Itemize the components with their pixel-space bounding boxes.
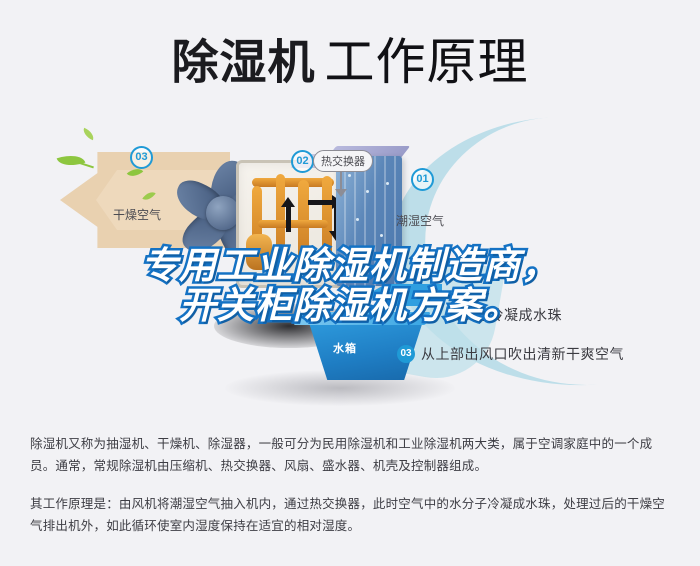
flow-arrow-right-icon	[308, 200, 332, 205]
step-label-dry-air: 干燥空气	[113, 206, 161, 223]
page-title-primary: 除湿机	[172, 36, 316, 89]
leaf-icon	[81, 128, 96, 141]
body-paragraph-2: 其工作原理是：由风机将潮湿空气抽入机内，通过热交换器，此时空气中的水分子冷凝成水…	[30, 493, 672, 537]
page-title: 除湿机工作原理	[0, 22, 700, 94]
fan-hub	[206, 196, 240, 230]
page-title-secondary: 工作原理	[325, 34, 529, 90]
note-text-02: 蒸发器冷凝成水珠	[446, 305, 562, 325]
note-text-03: 从上部出风口吹出清新干爽空气	[421, 344, 624, 364]
body-paragraph-1: 除湿机又称为抽湿机、干燥机、除湿器，一般可分为民用除湿机和工业除湿机两大类，属于…	[30, 433, 672, 477]
water-tank-label: 水箱	[333, 340, 357, 356]
leaf-icon	[57, 150, 86, 170]
step-label-humid-air: 潮湿空气	[396, 212, 444, 229]
evaporator-block	[336, 156, 402, 286]
compressor-cylinder	[246, 234, 272, 270]
leaf-stem-icon	[78, 162, 94, 169]
step-badge-02: 02	[291, 150, 314, 173]
flow-arrow-up-icon	[286, 206, 291, 232]
refrigerant-coil	[258, 220, 328, 228]
infographic-page: 除湿机工作原理	[0, 0, 700, 566]
humid-air-intake-arrow	[366, 284, 442, 306]
step-label-heat-exchanger: 热交换器	[313, 150, 373, 172]
step-badge-01: 01	[411, 168, 434, 191]
water-tank-lip	[293, 312, 430, 325]
step-badge-03: 03	[130, 146, 153, 169]
note-badge-03: 03	[397, 345, 415, 363]
